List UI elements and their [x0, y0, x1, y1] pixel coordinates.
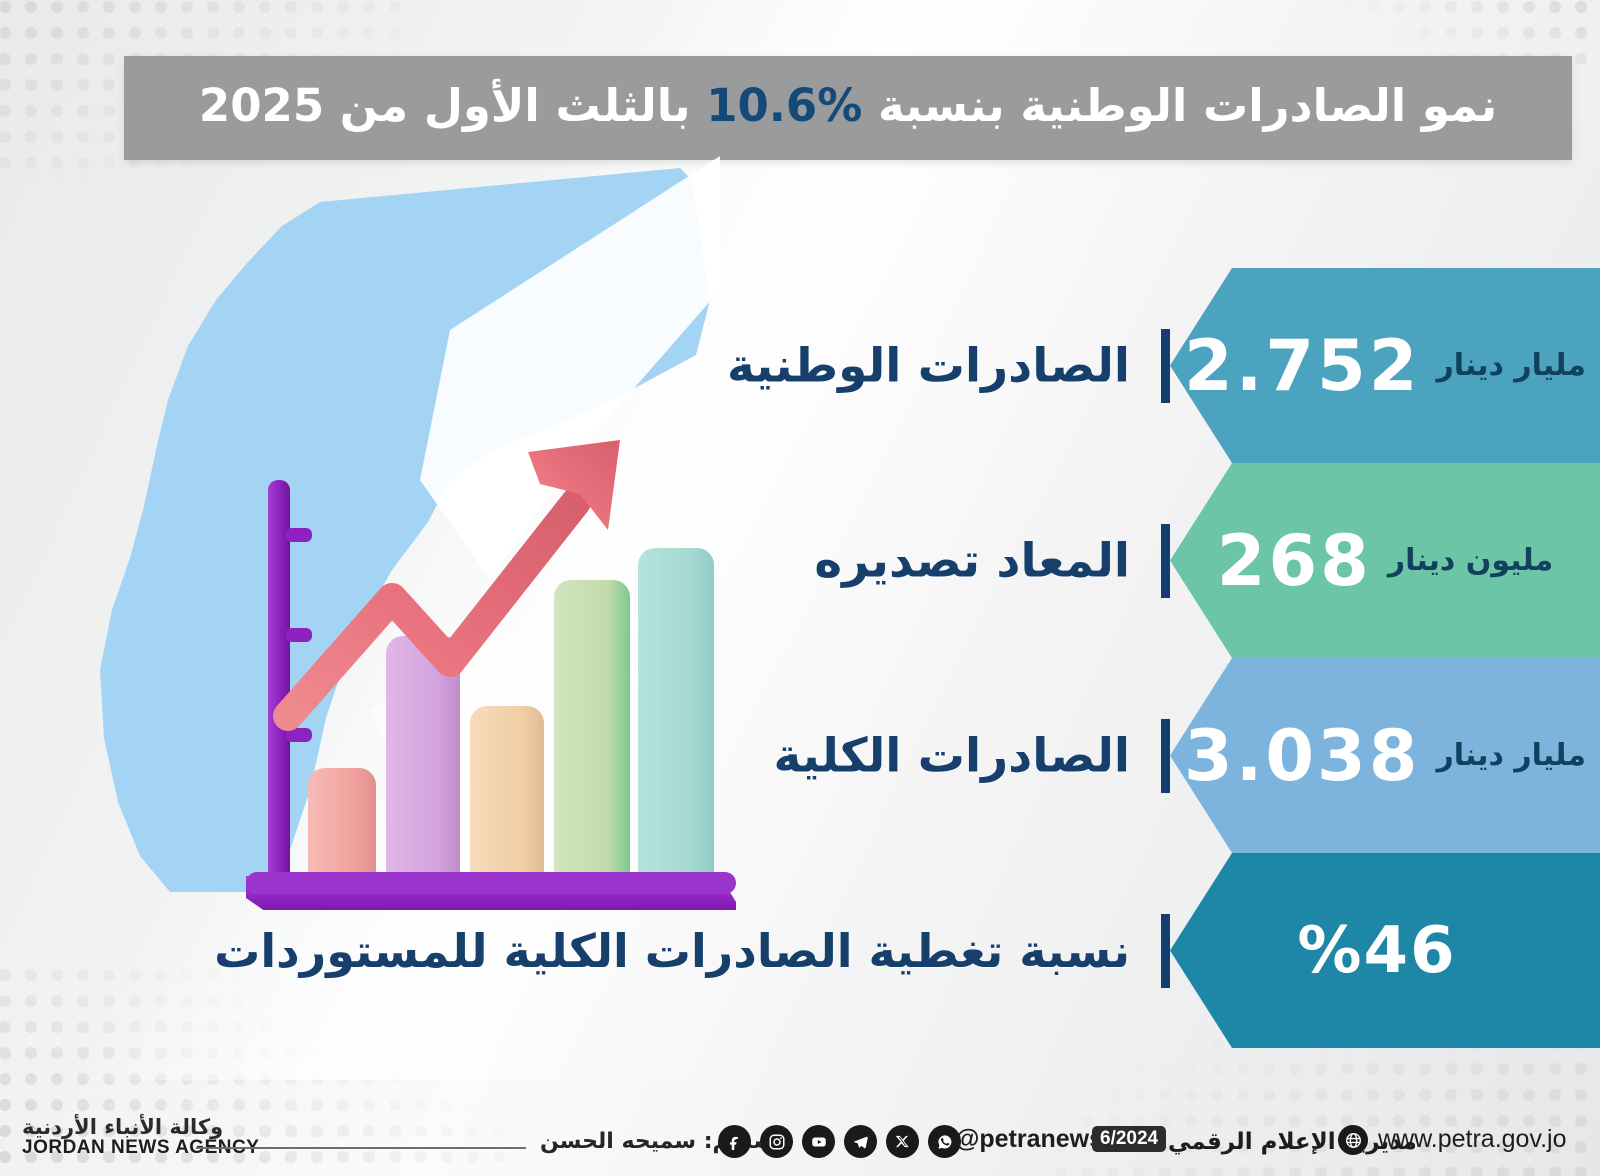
- title-highlight-percent: %10.6: [706, 79, 862, 132]
- globe-icon: [1338, 1125, 1368, 1155]
- instagram-icon[interactable]: [760, 1125, 793, 1158]
- date-badge: 6/2024: [1092, 1126, 1166, 1152]
- row-marker: [1161, 914, 1170, 988]
- youtube-icon[interactable]: [802, 1125, 835, 1158]
- stat-value: 2.752: [1184, 331, 1420, 401]
- social-handle: @petranews: [955, 1125, 1103, 1154]
- stat-chevron-total-exports: مليار دينار 3.038: [1170, 658, 1600, 853]
- stat-chevron-coverage-ratio: %46: [1170, 853, 1600, 1048]
- row-marker: [1161, 524, 1170, 598]
- row-marker: [1161, 329, 1170, 403]
- infographic-canvas: نمو الصادرات الوطنية بنسبة %10.6 بالثلث …: [0, 0, 1600, 1176]
- stat-value: %46: [1297, 919, 1456, 983]
- footer-bar: وكالة الأنباء الأردنية JORDAN NEWS AGENC…: [0, 1084, 1600, 1176]
- stat-label-re-exported: المعاد تصديره: [814, 533, 1130, 588]
- agency-name-ar: وكالة الأنباء الأردنية: [22, 1116, 259, 1138]
- facebook-icon[interactable]: [718, 1125, 751, 1158]
- stat-value: 268: [1217, 526, 1372, 596]
- stat-chevron-national-exports: مليار دينار 2.752: [1170, 268, 1600, 463]
- stat-value: 3.038: [1184, 721, 1420, 791]
- telegram-icon[interactable]: [844, 1125, 877, 1158]
- title-suffix: بالثلث الأول من 2025: [199, 79, 706, 132]
- page-title: نمو الصادرات الوطنية بنسبة %10.6 بالثلث …: [199, 81, 1497, 135]
- stat-row[interactable]: الصادرات الوطنية مليار دينار 2.752: [0, 268, 1600, 463]
- footer-divider: [196, 1147, 526, 1149]
- stat-row[interactable]: نسبة تغطية الصادرات الكلية للمستوردات %4…: [0, 853, 1600, 1048]
- website-url: www.petra.gov.jo: [1378, 1125, 1567, 1154]
- dot-pattern-top-right: [1308, 0, 1600, 64]
- stat-label-coverage-ratio: نسبة تغطية الصادرات الكلية للمستوردات: [214, 924, 1130, 978]
- stat-label-national-exports: الصادرات الوطنية: [727, 338, 1130, 393]
- stat-rows: الصادرات الوطنية مليار دينار 2.752 المعا…: [0, 268, 1600, 1048]
- title-prefix: نمو الصادرات الوطنية بنسبة: [862, 79, 1497, 132]
- stat-chevron-re-exported: مليون دينار 268: [1170, 463, 1600, 658]
- stat-label-total-exports: الصادرات الكلية: [773, 728, 1130, 783]
- stat-unit: مليون دينار: [1388, 546, 1553, 576]
- x-twitter-icon[interactable]: [886, 1125, 919, 1158]
- row-marker: [1161, 719, 1170, 793]
- stat-row[interactable]: الصادرات الكلية مليار دينار 3.038: [0, 658, 1600, 853]
- stat-row[interactable]: المعاد تصديره مليون دينار 268: [0, 463, 1600, 658]
- stat-unit: مليار دينار: [1436, 351, 1586, 381]
- title-bar: نمو الصادرات الوطنية بنسبة %10.6 بالثلث …: [124, 56, 1572, 160]
- social-links[interactable]: [718, 1125, 961, 1158]
- agency-logo: وكالة الأنباء الأردنية JORDAN NEWS AGENC…: [22, 1116, 259, 1158]
- stat-unit: مليار دينار: [1436, 741, 1586, 771]
